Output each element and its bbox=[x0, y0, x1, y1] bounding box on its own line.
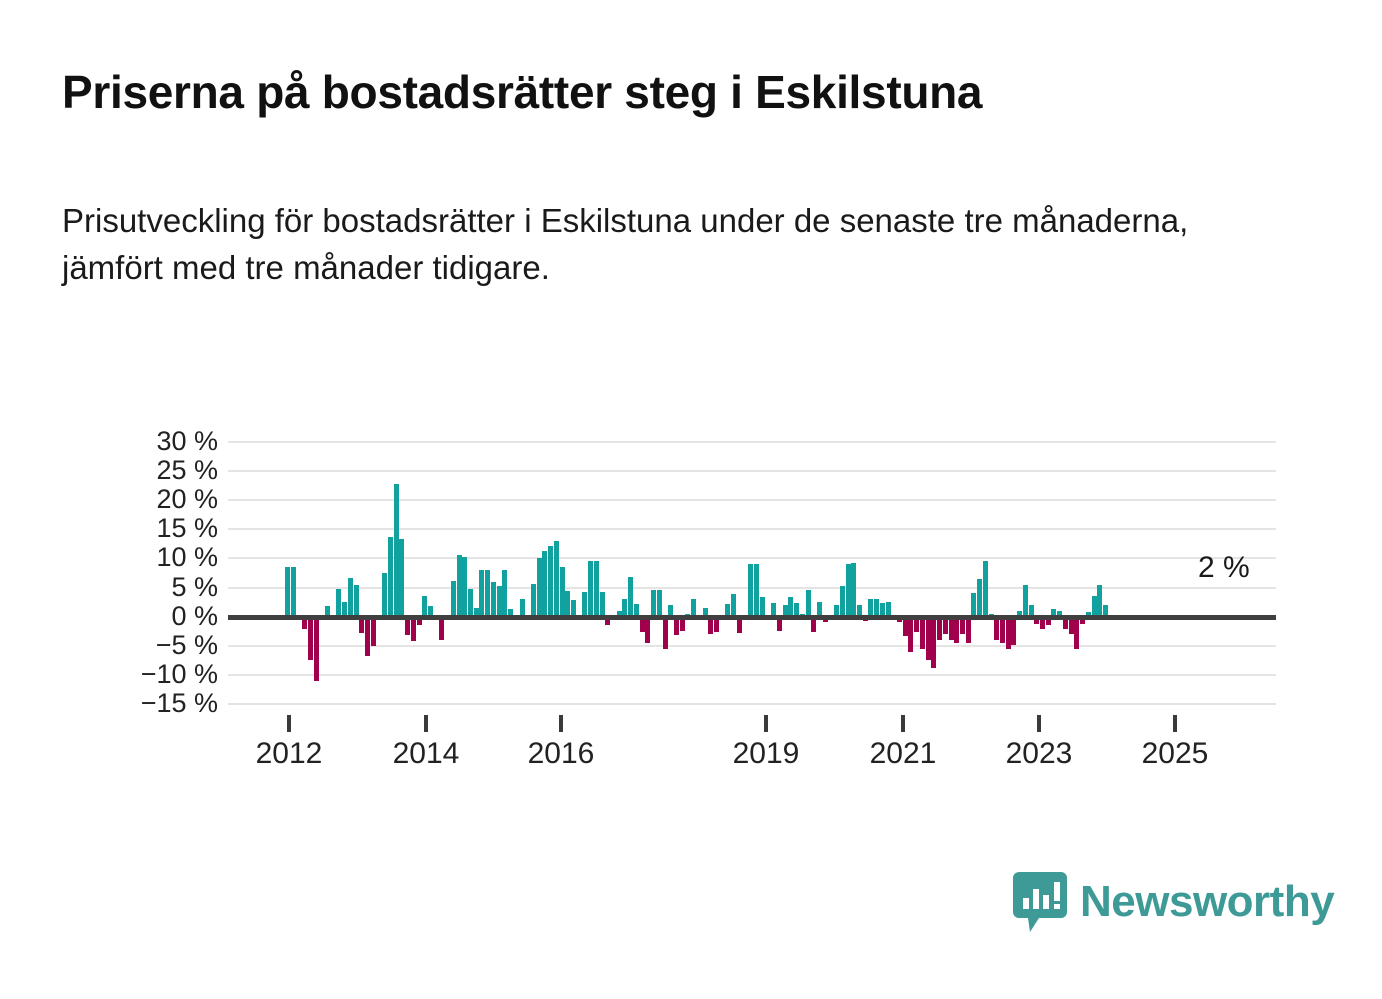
bar bbox=[439, 617, 444, 640]
y-axis-tick-label: 20 % bbox=[100, 486, 218, 513]
bar bbox=[908, 617, 913, 652]
bar bbox=[977, 579, 982, 617]
bar bbox=[1000, 617, 1005, 643]
x-axis-tick bbox=[764, 715, 768, 732]
bar bbox=[285, 567, 290, 616]
bar bbox=[926, 617, 931, 661]
y-axis-tick-label: 10 % bbox=[100, 544, 218, 571]
bar bbox=[348, 578, 353, 617]
bar bbox=[411, 617, 416, 641]
x-axis: 2012201420162019202120232025 bbox=[228, 715, 1276, 785]
bar bbox=[560, 567, 565, 617]
y-axis-tick-label: 30 % bbox=[100, 428, 218, 455]
x-axis-tick-label: 2014 bbox=[393, 737, 460, 771]
plot-area bbox=[228, 442, 1276, 704]
bar bbox=[554, 541, 559, 617]
bar bbox=[1023, 585, 1028, 617]
bar bbox=[651, 590, 656, 616]
bar bbox=[479, 570, 484, 617]
bar bbox=[462, 557, 467, 616]
bar bbox=[336, 589, 341, 617]
bar bbox=[931, 617, 936, 668]
x-axis-tick bbox=[559, 715, 563, 732]
bar bbox=[314, 617, 319, 681]
logo-wordmark: Newsworthy bbox=[1080, 880, 1334, 924]
bar bbox=[371, 617, 376, 647]
bar bbox=[457, 555, 462, 617]
bar bbox=[954, 617, 959, 643]
y-axis-tick-label: −10 % bbox=[100, 661, 218, 688]
bar bbox=[1011, 617, 1016, 645]
bar bbox=[365, 617, 370, 657]
x-axis-tick-label: 2021 bbox=[870, 737, 937, 771]
y-axis-tick-label: 0 % bbox=[100, 603, 218, 630]
bar bbox=[994, 617, 999, 640]
y-axis-tick-label: 25 % bbox=[100, 457, 218, 484]
bar bbox=[983, 561, 988, 616]
bar bbox=[451, 581, 456, 617]
last-value-annotation: 2 % bbox=[1198, 551, 1250, 585]
bar bbox=[748, 564, 753, 616]
bar bbox=[840, 586, 845, 617]
y-axis-tick-label: −15 % bbox=[100, 690, 218, 717]
bar bbox=[851, 563, 856, 617]
y-axis-labels: 30 %25 %20 %15 %10 %5 %0 %−5 %−10 %−15 % bbox=[100, 430, 218, 710]
bar bbox=[628, 577, 633, 617]
bar bbox=[657, 590, 662, 616]
bar-series bbox=[228, 442, 1276, 704]
bar bbox=[308, 617, 313, 661]
x-axis-tick bbox=[424, 715, 428, 732]
bar bbox=[497, 586, 502, 616]
newsworthy-logo: Newsworthy bbox=[1013, 872, 1334, 932]
page-subtitle: Prisutveckling för bostadsrätter i Eskil… bbox=[62, 198, 1222, 292]
page-title: Priserna på bostadsrätter steg i Eskilst… bbox=[62, 68, 1332, 118]
x-axis-tick bbox=[901, 715, 905, 732]
bar bbox=[1074, 617, 1079, 649]
bar bbox=[731, 594, 736, 617]
bar-chart: 30 %25 %20 %15 %10 %5 %0 %−5 %−10 %−15 %… bbox=[0, 430, 1382, 730]
bar bbox=[582, 592, 587, 617]
x-axis-tick bbox=[287, 715, 291, 732]
bar bbox=[468, 589, 473, 617]
bar bbox=[600, 592, 605, 617]
bar bbox=[846, 564, 851, 616]
y-axis-tick-label: 5 % bbox=[100, 574, 218, 601]
x-axis-tick-label: 2023 bbox=[1006, 737, 1073, 771]
bar bbox=[1092, 596, 1097, 616]
bar bbox=[1097, 585, 1102, 617]
bar bbox=[502, 570, 507, 617]
y-axis-tick-label: 15 % bbox=[100, 515, 218, 542]
bar bbox=[1006, 617, 1011, 649]
bar bbox=[588, 561, 593, 616]
bar bbox=[645, 617, 650, 643]
bar bbox=[531, 584, 536, 617]
bar bbox=[966, 617, 971, 643]
bar bbox=[382, 573, 387, 617]
bar bbox=[937, 617, 942, 640]
bar bbox=[663, 617, 668, 649]
bar bbox=[949, 617, 954, 640]
bar bbox=[971, 593, 976, 616]
bar-chart-speech-bubble-icon bbox=[1013, 872, 1067, 932]
bar bbox=[754, 564, 759, 616]
x-axis-tick bbox=[1037, 715, 1041, 732]
bar bbox=[394, 484, 399, 617]
bar bbox=[422, 596, 427, 617]
bar bbox=[291, 567, 296, 616]
x-axis-tick-label: 2019 bbox=[733, 737, 800, 771]
bar bbox=[485, 570, 490, 617]
bar bbox=[399, 539, 404, 617]
x-axis-tick-label: 2025 bbox=[1142, 737, 1209, 771]
bar bbox=[354, 585, 359, 617]
bar bbox=[548, 546, 553, 617]
bar bbox=[920, 617, 925, 650]
y-axis-tick-label: −5 % bbox=[100, 632, 218, 659]
bar bbox=[388, 537, 393, 616]
x-axis-tick-label: 2012 bbox=[256, 737, 323, 771]
x-axis-tick bbox=[1173, 715, 1177, 732]
bar bbox=[537, 558, 542, 616]
zero-axis-line bbox=[228, 615, 1276, 620]
bar bbox=[542, 551, 547, 617]
bar bbox=[491, 582, 496, 617]
bar bbox=[806, 590, 811, 616]
bar bbox=[565, 591, 570, 617]
x-axis-tick-label: 2016 bbox=[528, 737, 595, 771]
bar bbox=[594, 561, 599, 617]
